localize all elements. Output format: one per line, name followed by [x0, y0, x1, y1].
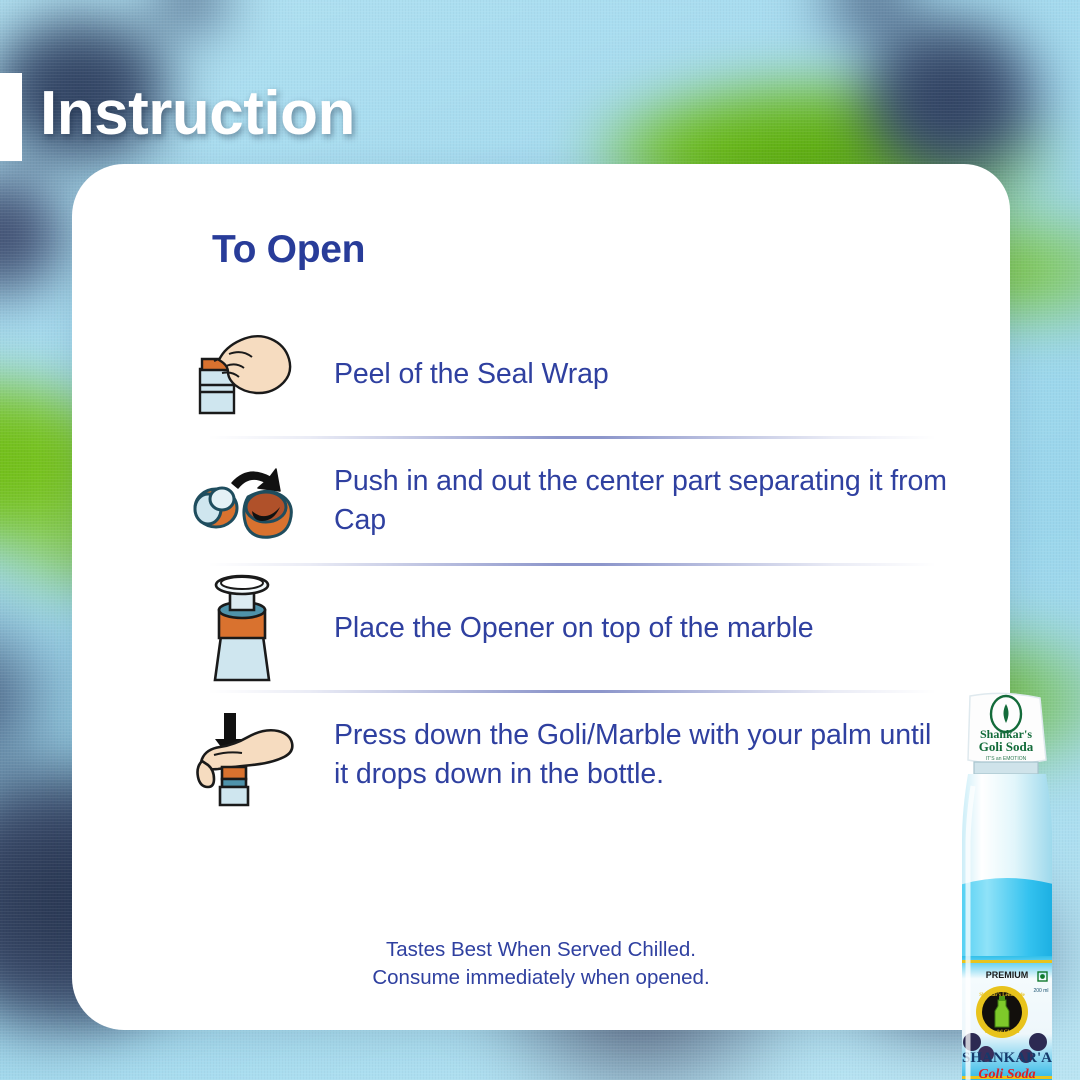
list-item-label: Place the Opener on top of the marble	[334, 609, 952, 648]
card-title: To Open	[212, 228, 365, 272]
list-item-label: Peel of the Seal Wrap	[334, 355, 952, 394]
footer-note-line-2: Consume immediately when opened.	[72, 964, 1010, 992]
list-item-label: Push in and out the center part separati…	[334, 462, 952, 540]
instruction-graphic: Instruction To Open	[0, 0, 1080, 1080]
instruction-card: To Open	[72, 164, 1010, 1030]
label-premium: PREMIUM	[986, 970, 1029, 980]
title-accent-bar	[0, 73, 22, 161]
divider	[208, 563, 936, 566]
label-logo-top: Shankar's Lemonade	[979, 993, 1025, 998]
label-volume: 200 ml	[1033, 988, 1048, 994]
seal-brand-line-2: Goli Soda	[979, 739, 1034, 754]
steps-list: Peel of the Seal Wrap	[182, 322, 952, 807]
list-item: Peel of the Seal Wrap	[182, 322, 952, 426]
cap-separating-center-part-icon	[182, 449, 302, 553]
label-logo-bottom: Chendal Chendi	[985, 1030, 1020, 1035]
hand-peeling-seal-icon	[182, 322, 302, 426]
opener-on-bottle-top-icon	[182, 576, 302, 680]
label-product: Goli Soda	[978, 1067, 1035, 1080]
seal-tagline: IT'S an EMOTION	[986, 756, 1027, 762]
footer-note-line-1: Tastes Best When Served Chilled.	[72, 936, 1010, 964]
divider	[208, 690, 936, 693]
product-bottle-image: Shankar's Goli Soda IT'S an EMOTION PREM…	[940, 690, 1072, 1080]
list-item: Place the Opener on top of the marble	[182, 576, 952, 680]
list-item: Push in and out the center part separati…	[182, 449, 952, 553]
divider	[208, 436, 936, 439]
list-item: Press down the Goli/Marble with your pal…	[182, 703, 952, 807]
page-title: Instruction	[40, 78, 355, 149]
list-item-label: Press down the Goli/Marble with your pal…	[334, 716, 952, 794]
label-brand: SHANKAR'A	[962, 1050, 1052, 1066]
footer-note: Tastes Best When Served Chilled. Consume…	[72, 936, 1010, 992]
palm-pressing-down-icon	[182, 703, 302, 807]
